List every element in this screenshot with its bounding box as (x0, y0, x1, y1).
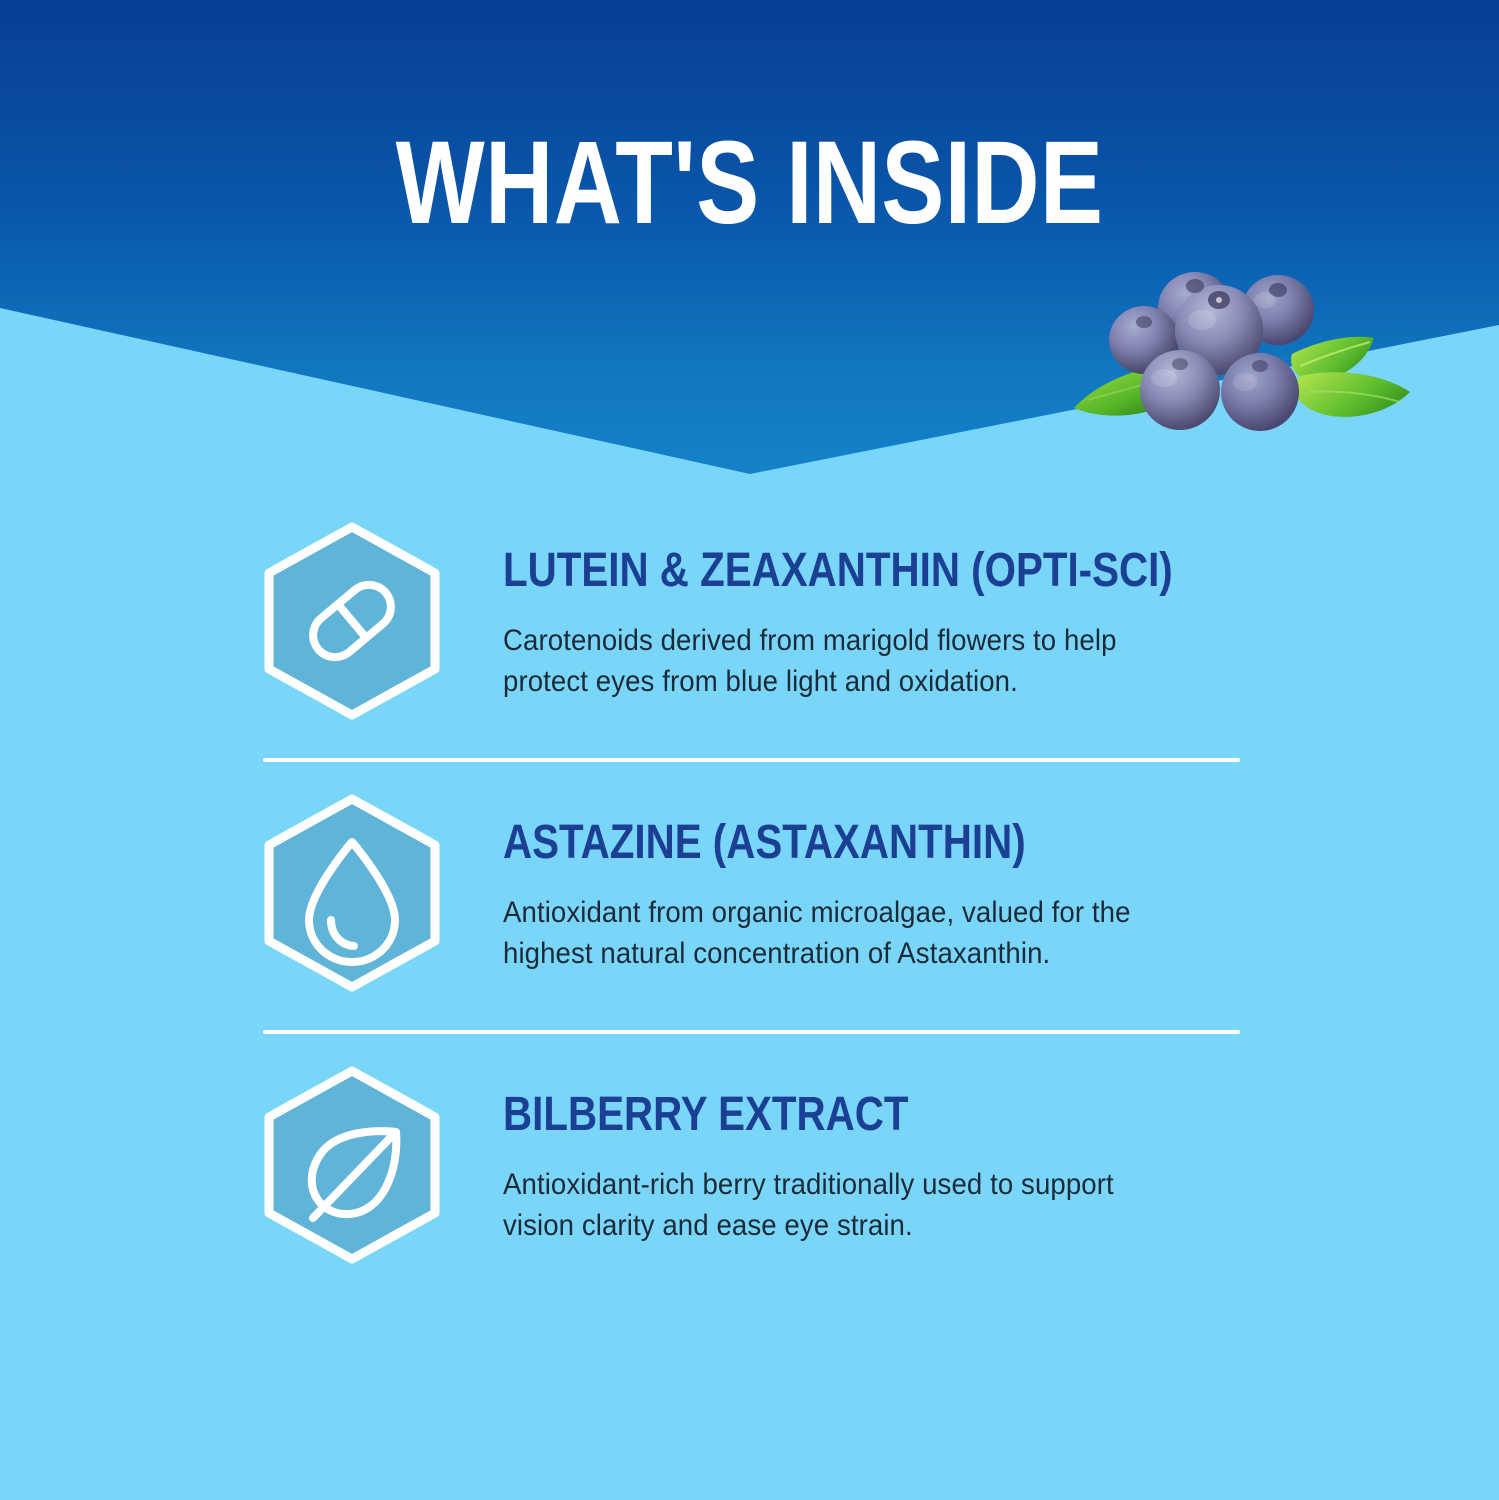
ingredient-row-astazine: ASTAZINE (ASTAXANTHIN) Antioxidant from … (0, 762, 1499, 1030)
ingredient-row-lutein: LUTEIN & ZEAXANTHIN (OPTI-SCI) Carotenoi… (0, 490, 1499, 758)
ingredient-title: BILBERRY EXTRACT (503, 1088, 1091, 1142)
water-droplet-icon (263, 794, 441, 992)
ingredient-title: LUTEIN & ZEAXANTHIN (OPTI-SCI) (503, 544, 1091, 598)
ingredient-description: Antioxidant-rich berry traditionally use… (503, 1164, 1147, 1246)
ingredient-text-lutein: LUTEIN & ZEAXANTHIN (OPTI-SCI) Carotenoi… (441, 490, 1203, 702)
ingredient-description: Antioxidant from organic microalgae, val… (503, 892, 1147, 974)
leaf-icon (263, 1066, 441, 1264)
page-title: WHAT'S INSIDE (150, 122, 1349, 244)
whats-inside-poster: WHAT'S INSIDE (0, 0, 1499, 1500)
ingredient-title: ASTAZINE (ASTAXANTHIN) (503, 816, 1091, 870)
ingredient-text-astazine: ASTAZINE (ASTAXANTHIN) Antioxidant from … (441, 762, 1203, 974)
capsule-pill-icon (263, 522, 441, 720)
ingredient-list: LUTEIN & ZEAXANTHIN (OPTI-SCI) Carotenoi… (0, 490, 1499, 1302)
ingredient-text-bilberry: BILBERRY EXTRACT Antioxidant-rich berry … (441, 1034, 1203, 1246)
ingredient-description: Carotenoids derived from marigold flower… (503, 620, 1147, 702)
ingredient-row-bilberry: BILBERRY EXTRACT Antioxidant-rich berry … (0, 1034, 1499, 1302)
